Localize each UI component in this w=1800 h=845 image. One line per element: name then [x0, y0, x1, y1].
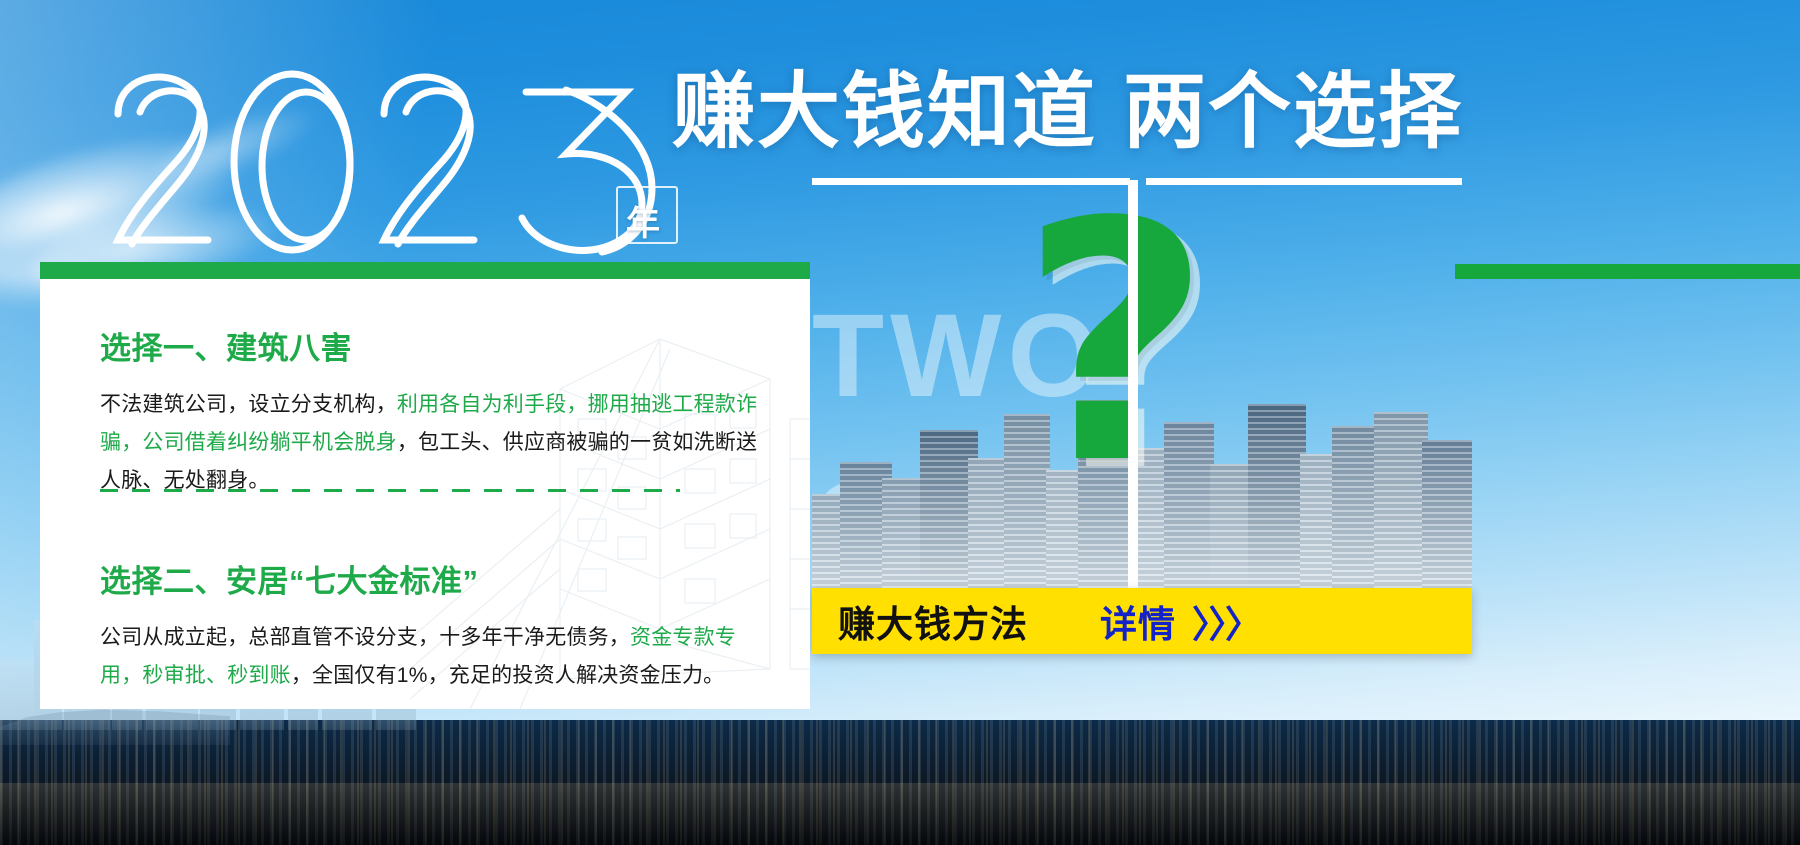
section-one-title: 选择一、建筑八害 [100, 323, 770, 368]
poster-stage: 年 赚大钱知道两个选择 TWO CHOICES ? ? 赚大钱方法 详情 〉〉〉 [0, 0, 1800, 845]
question-mark-icon: ? [1020, 216, 1211, 473]
card-top-accent [40, 262, 810, 279]
headline-left: 赚大钱知道 [672, 65, 1097, 158]
panel-divider [1128, 180, 1138, 590]
water-reflection [0, 783, 1800, 845]
building [1300, 454, 1336, 590]
section-one-body: 不法建筑公司，设立分支机构，利用各自为利手段，挪用抽逃工程款诈骗，公司借着纠纷躺… [100, 386, 770, 500]
section-two-body: 公司从成立起，总部直管不设分支，十多年干净无债务，资金专款专用，秒审批、秒到账，… [100, 619, 770, 695]
section-divider [100, 489, 680, 492]
building [1248, 404, 1306, 590]
right-panel [1455, 279, 1800, 709]
year-suffix: 年 [626, 196, 661, 245]
headline-right: 两个选择 [1123, 65, 1463, 158]
body-text: ，全国仅有1%，充足的投资人解决资金压力。 [291, 664, 725, 687]
body-text: 公司从成立起，总部直管不设分支，十多年干净无债务， [100, 626, 630, 649]
section-two-title: 选择二、安居“七大金标准” [100, 556, 770, 601]
building [1374, 412, 1428, 590]
content-card: 选择一、建筑八害 不法建筑公司，设立分支机构，利用各自为利手段，挪用抽逃工程款诈… [40, 279, 810, 709]
body-text: 不法建筑公司，设立分支机构， [100, 393, 397, 416]
cta-banner[interactable]: 赚大钱方法 详情 〉〉〉 [812, 588, 1472, 654]
building [968, 458, 1008, 590]
cta-label: 赚大钱方法 [838, 594, 1028, 648]
cta-detail-link[interactable]: 详情 [1100, 594, 1176, 648]
chevron-right-icon: 〉〉〉 [1192, 594, 1260, 648]
right-green-accent [1455, 264, 1800, 279]
building [1332, 426, 1380, 590]
page-title: 赚大钱知道两个选择 [672, 70, 1463, 153]
